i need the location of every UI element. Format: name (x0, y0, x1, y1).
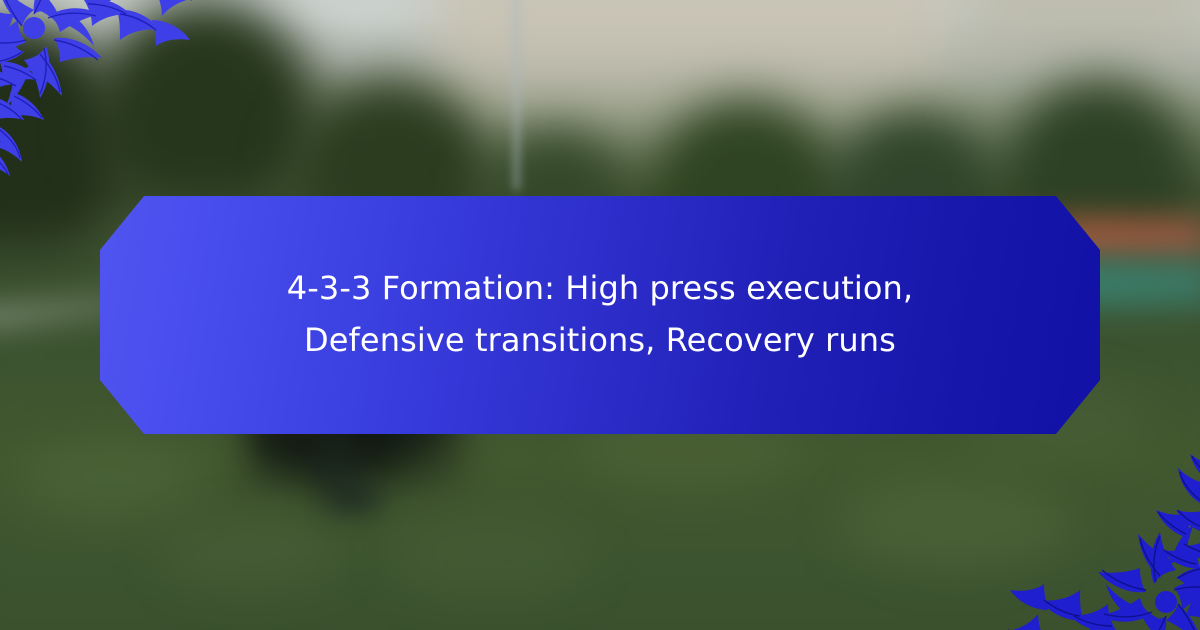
quote-banner: 4-3-3 Formation: High press execution, D… (100, 196, 1100, 434)
quote-card-canvas: 4-3-3 Formation: High press execution, D… (0, 0, 1200, 630)
quote-text: 4-3-3 Formation: High press execution, D… (210, 263, 990, 367)
